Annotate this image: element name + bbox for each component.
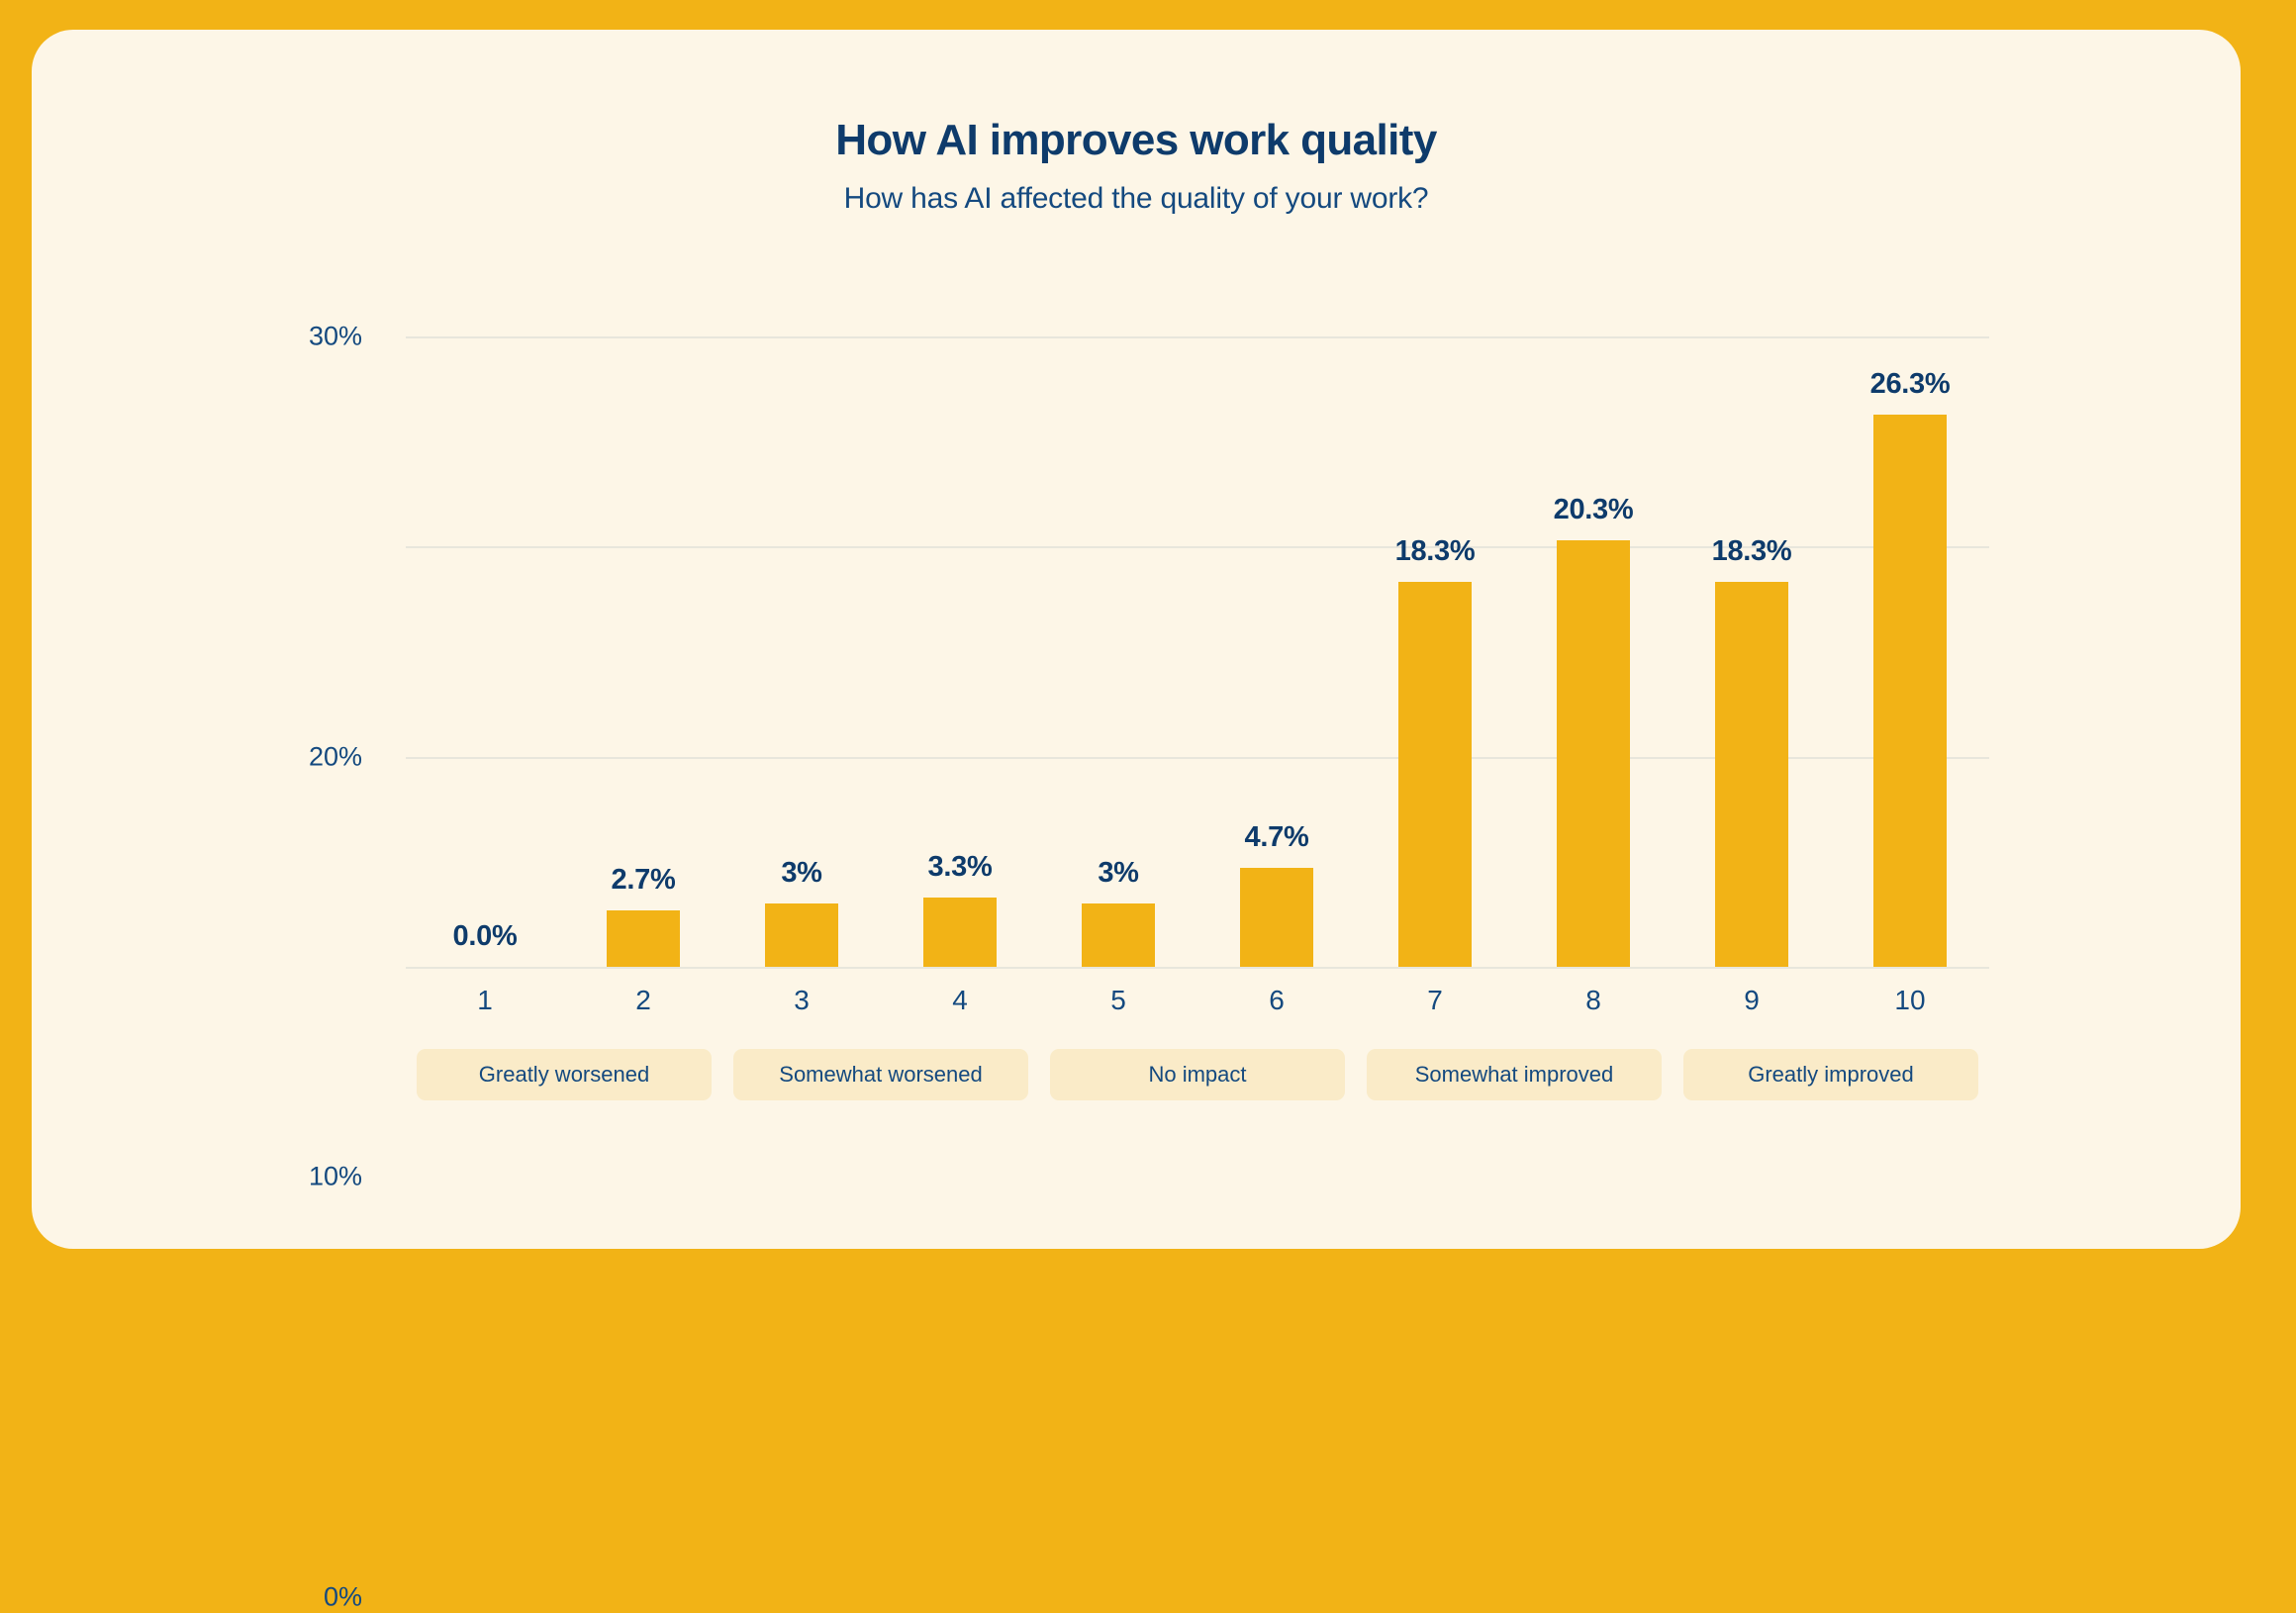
bar-value-label: 4.7% (1245, 821, 1309, 854)
bar[interactable] (765, 903, 838, 967)
bar[interactable] (1557, 540, 1630, 967)
x-axis-ticks: 12345678910 (406, 985, 1989, 1016)
chart-card: How AI improves work quality How has AI … (32, 30, 2241, 1249)
scale-group-pill: Somewhat improved (1367, 1049, 1662, 1100)
bar-slot[interactable]: 4.7% (1197, 336, 1356, 967)
x-axis-tick-label: 7 (1356, 985, 1514, 1016)
bar-slot[interactable]: 20.3% (1514, 336, 1673, 967)
bar-value-label: 3.3% (928, 851, 993, 884)
gridline: 0% (406, 967, 1989, 969)
scale-group-slot: Greatly improved (1673, 1049, 1989, 1100)
bar-slot[interactable]: 26.3% (1831, 336, 1989, 967)
x-axis-tick-label: 6 (1197, 985, 1356, 1016)
plot-area: 0%10%20%30% 0.0%2.7%3%3.3%3%4.7%18.3%20.… (406, 336, 1989, 967)
bar-value-label: 20.3% (1554, 494, 1634, 526)
bar[interactable] (1715, 582, 1788, 967)
bar-series: 0.0%2.7%3%3.3%3%4.7%18.3%20.3%18.3%26.3% (406, 336, 1989, 967)
x-axis-tick-label: 9 (1673, 985, 1831, 1016)
scale-group-slot: No impact (1039, 1049, 1356, 1100)
scale-group-labels: Greatly worsenedSomewhat worsenedNo impa… (406, 1049, 1989, 1100)
y-axis-tick-label: 10% (309, 1162, 362, 1192)
scale-group-pill: No impact (1050, 1049, 1345, 1100)
bar-value-label: 3% (781, 857, 821, 890)
chart-header: How AI improves work quality How has AI … (32, 117, 2241, 215)
x-axis-tick-label: 1 (406, 985, 564, 1016)
x-axis-tick-label: 2 (564, 985, 722, 1016)
bar-value-label: 18.3% (1712, 535, 1792, 568)
bar-value-label: 26.3% (1870, 368, 1951, 401)
bar[interactable] (1873, 415, 1947, 967)
bar[interactable] (923, 898, 997, 967)
scale-group-slot: Somewhat improved (1356, 1049, 1673, 1100)
scale-group-pill: Greatly improved (1683, 1049, 1978, 1100)
y-axis-tick-label: 0% (324, 1582, 362, 1613)
bar[interactable] (1398, 582, 1472, 967)
x-axis-tick-label: 4 (881, 985, 1039, 1016)
x-axis-tick-label: 5 (1039, 985, 1197, 1016)
bar-slot[interactable]: 3.3% (881, 336, 1039, 967)
page-title: How AI improves work quality (32, 117, 2241, 164)
bar[interactable] (1240, 868, 1313, 967)
bar-slot[interactable]: 3% (722, 336, 881, 967)
chart-subtitle: How has AI affected the quality of your … (32, 182, 2241, 215)
bar-slot[interactable]: 18.3% (1356, 336, 1514, 967)
x-axis-tick-label: 10 (1831, 985, 1989, 1016)
scale-group-pill: Somewhat worsened (733, 1049, 1028, 1100)
bar-value-label: 2.7% (612, 864, 676, 897)
scale-group-slot: Greatly worsened (406, 1049, 722, 1100)
bar-value-label: 18.3% (1395, 535, 1476, 568)
bar-value-label: 0.0% (453, 920, 518, 953)
y-axis-tick-label: 20% (309, 741, 362, 772)
bar[interactable] (607, 910, 680, 967)
bar[interactable] (1082, 903, 1155, 967)
bar-slot[interactable]: 18.3% (1673, 336, 1831, 967)
bar-value-label: 3% (1098, 857, 1138, 890)
x-axis-tick-label: 8 (1514, 985, 1673, 1016)
y-axis-tick-label: 30% (309, 322, 362, 352)
bar-slot[interactable]: 2.7% (564, 336, 722, 967)
x-axis-tick-label: 3 (722, 985, 881, 1016)
bar-slot[interactable]: 3% (1039, 336, 1197, 967)
scale-group-slot: Somewhat worsened (722, 1049, 1039, 1100)
bar-slot[interactable]: 0.0% (406, 336, 564, 967)
scale-group-pill: Greatly worsened (417, 1049, 712, 1100)
